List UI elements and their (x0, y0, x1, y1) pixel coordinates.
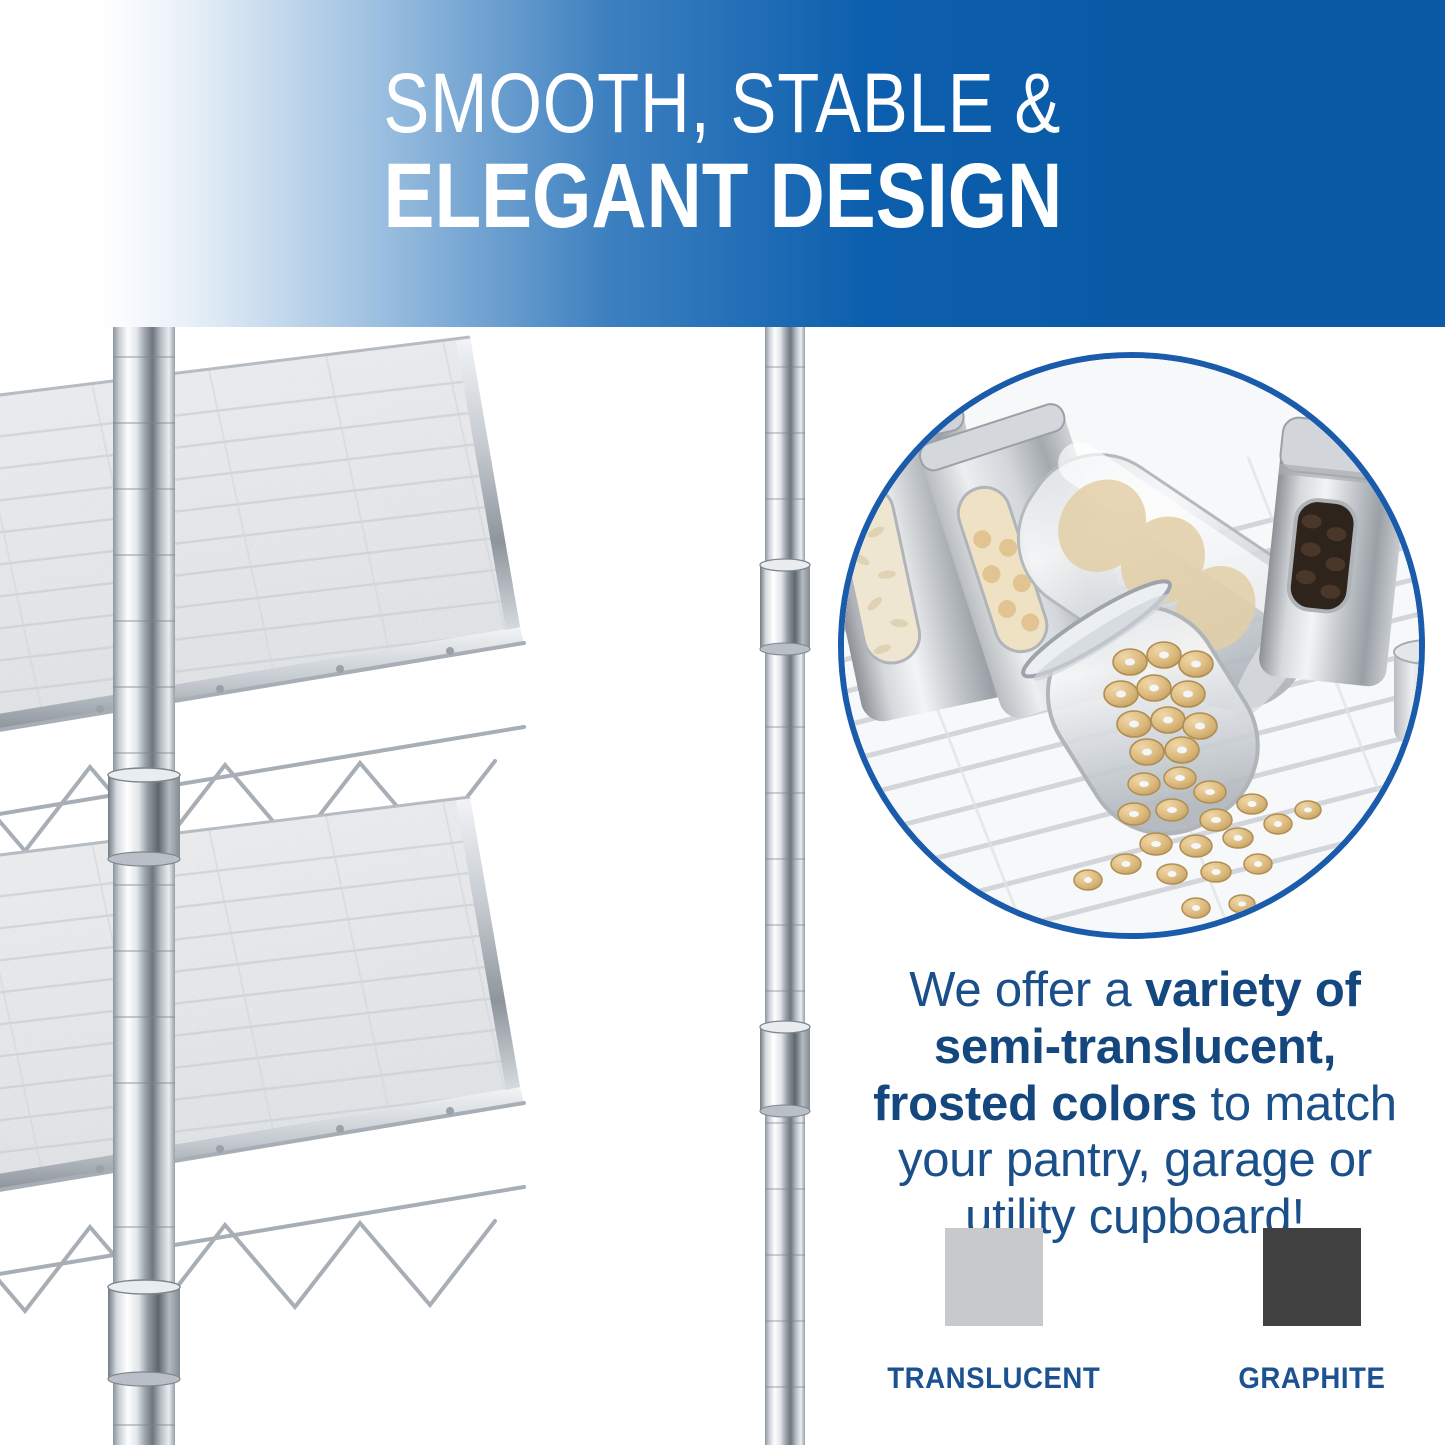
headline-line-2: ELEGANT DESIGN (383, 150, 1062, 242)
swatch-translucent[interactable]: TRANSLUCENT (878, 1228, 1110, 1396)
copy-part-1: We offer a (909, 963, 1145, 1017)
marketing-copy: We offer a variety of semi-translucent, … (850, 962, 1420, 1246)
swatch-label-graphite: GRAPHITE (1238, 1362, 1385, 1396)
header-text-group: SMOOTH, STABLE & ELEGANT DESIGN (0, 0, 1445, 327)
swatch-label-translucent: TRANSLUCENT (888, 1362, 1101, 1396)
swatch-chip-translucent[interactable] (945, 1228, 1043, 1326)
canister-scene-illustration (838, 352, 1425, 939)
chrome-shelving-photo (0, 327, 840, 1445)
product-feature-card: SMOOTH, STABLE & ELEGANT DESIGN (0, 0, 1445, 1445)
swatch-graphite[interactable]: GRAPHITE (1232, 1228, 1392, 1396)
headline-line-1: SMOOTH, STABLE & (384, 63, 1062, 144)
canister-closeup-photo (838, 352, 1425, 939)
header-banner: SMOOTH, STABLE & ELEGANT DESIGN (0, 0, 1445, 327)
shelving-illustration (0, 327, 840, 1445)
color-swatch-row: TRANSLUCENT GRAPHITE (850, 1228, 1420, 1396)
shelving-post-left (108, 327, 180, 1445)
shelving-post-right (760, 327, 810, 1445)
swatch-chip-graphite[interactable] (1263, 1228, 1361, 1326)
